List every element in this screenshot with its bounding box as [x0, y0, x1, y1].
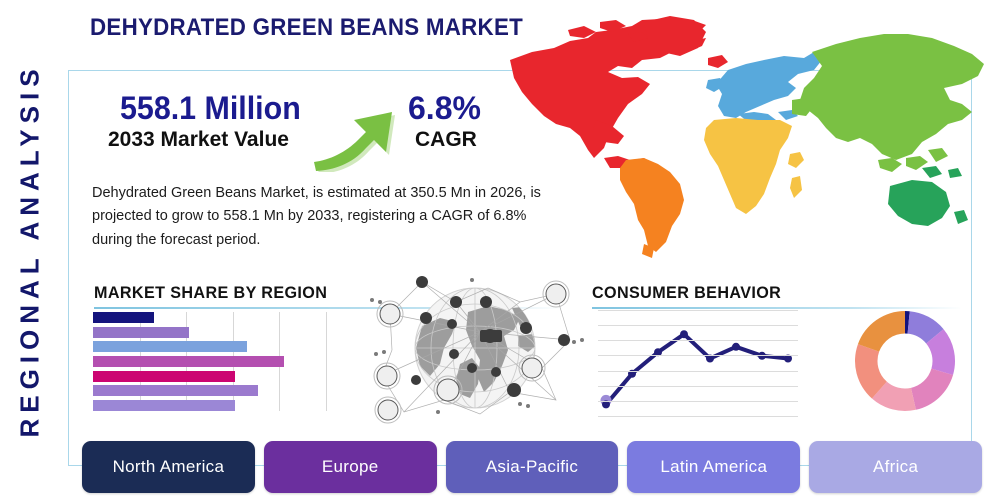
region-button-latin-america[interactable]: Latin America [627, 441, 800, 493]
market-value-number: 558.1 Million [120, 90, 301, 127]
line-gridline [598, 386, 798, 387]
line-gridline [598, 416, 798, 417]
world-map-icon [492, 8, 992, 273]
consumer-behavior-section-header: CONSUMER BEHAVIOR [592, 283, 962, 309]
infographic-root: REGIONAL ANALYSIS DEHYDRATED GREEN BEANS… [0, 0, 1000, 500]
page-title: DEHYDRATED GREEN BEANS MARKET [90, 14, 523, 42]
region-button-group[interactable]: North AmericaEuropeAsia-PacificLatin Ame… [82, 441, 982, 493]
bar [93, 371, 235, 382]
line-chart-gridlines [598, 310, 798, 416]
bar-gridline [326, 312, 327, 411]
regional-share-donut-chart [852, 308, 958, 414]
bar-row [93, 371, 326, 382]
cagr-caption: CAGR [415, 128, 477, 152]
line-gridline [598, 401, 798, 402]
consumer-behavior-line-chart [598, 310, 798, 416]
vertical-section-label-text: REGIONAL ANALYSIS [15, 63, 46, 437]
line-gridline [598, 340, 798, 341]
bar [93, 312, 154, 323]
market-value-caption: 2033 Market Value [108, 128, 289, 152]
bar-row [93, 356, 326, 367]
kpi-block: 558.1 Million 2033 Market Value 6.8% CAG… [108, 90, 528, 170]
donut-segment [858, 311, 905, 352]
line-gridline [598, 325, 798, 326]
donut-segment [911, 369, 953, 410]
region-button-asia-pacific[interactable]: Asia-Pacific [446, 441, 619, 493]
region-button-label: North America [113, 457, 225, 477]
region-button-north-america[interactable]: North America [82, 441, 255, 493]
bar-row [93, 385, 326, 396]
bar [93, 356, 284, 367]
bar [93, 385, 258, 396]
region-button-europe[interactable]: Europe [264, 441, 437, 493]
line-gridline [598, 371, 798, 372]
bar-row [93, 341, 326, 352]
cagr-number: 6.8% [408, 90, 481, 127]
market-share-bar-chart [93, 312, 326, 411]
growth-arrow-icon [308, 82, 408, 172]
region-button-label: Africa [873, 457, 918, 477]
bar [93, 327, 189, 338]
line-gridline [598, 310, 798, 311]
region-button-label: Asia-Pacific [486, 457, 578, 477]
bar-row [93, 327, 326, 338]
vertical-section-label: REGIONAL ANALYSIS [0, 0, 62, 500]
bar [93, 400, 235, 411]
bar [93, 341, 247, 352]
line-gridline [598, 355, 798, 356]
region-button-label: Europe [322, 457, 379, 477]
region-button-africa[interactable]: Africa [809, 441, 982, 493]
bar-row [93, 312, 326, 323]
description-text: Dehydrated Green Beans Market, is estima… [92, 182, 562, 252]
region-button-label: Latin America [660, 457, 767, 477]
global-network-icon [360, 272, 590, 424]
bar-chart-bars [93, 312, 326, 411]
bar-row [93, 400, 326, 411]
consumer-behavior-title: CONSUMER BEHAVIOR [592, 283, 944, 303]
